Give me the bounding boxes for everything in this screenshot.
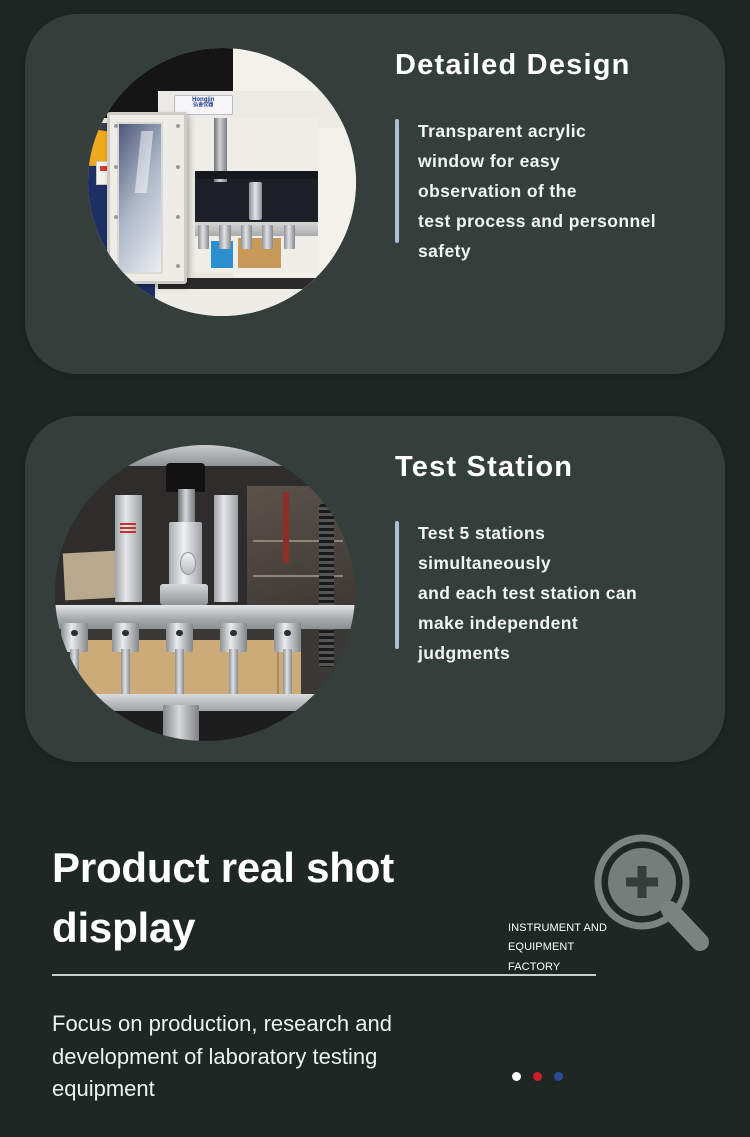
feature-card-test-station: Test Station Test 5 stations simultaneou… xyxy=(25,416,725,762)
accent-bar xyxy=(395,521,399,649)
promo-section: Product real shot display INSTRUMENT AND… xyxy=(0,762,750,1137)
feature-body-detailed-design: Detailed Design Transparent acrylic wind… xyxy=(395,50,695,266)
carousel-dot-3[interactable] xyxy=(554,1072,563,1081)
promo-subtitle: Focus on production, research and develo… xyxy=(52,1008,492,1106)
machine-acrylic-window-illustration: Hongjin弘金仪器 xyxy=(88,48,356,316)
zoom-in-magnifier-icon xyxy=(590,830,716,956)
factory-badge-text: INSTRUMENT AND EQUIPMENT FACTORY xyxy=(508,919,607,977)
feature-body-test-station: Test Station Test 5 stations simultaneou… xyxy=(395,452,695,668)
feature-description: Transparent acrylic window for easy obse… xyxy=(418,116,695,266)
accent-bar xyxy=(395,119,399,243)
promo-page: Hongjin弘金仪器 xyxy=(0,0,750,1137)
carousel-dots[interactable] xyxy=(512,1072,563,1081)
carousel-dot-2[interactable] xyxy=(533,1072,542,1081)
feature-title: Detailed Design xyxy=(395,50,695,82)
feature-photo-test-station xyxy=(55,445,355,741)
carousel-dot-1[interactable] xyxy=(512,1072,521,1081)
feature-card-detailed-design: Hongjin弘金仪器 xyxy=(25,14,725,374)
feature-title: Test Station xyxy=(395,452,695,484)
page-title: Product real shot display xyxy=(52,838,482,957)
five-station-fixture-illustration xyxy=(55,445,355,741)
feature-description: Test 5 stations simultaneously and each … xyxy=(418,518,695,668)
divider xyxy=(52,974,596,976)
feature-photo-detailed-design: Hongjin弘金仪器 xyxy=(88,48,356,316)
